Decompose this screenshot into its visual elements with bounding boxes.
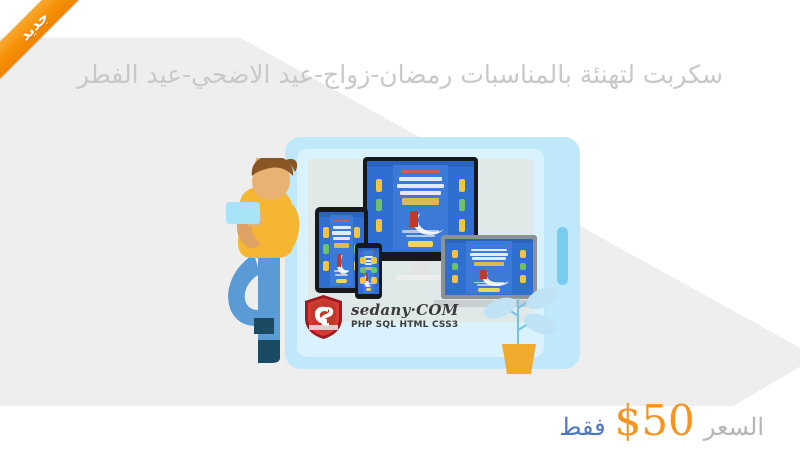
monitor-base (396, 275, 446, 280)
brand-logo-block: sedany·COM PHP SQL HTML CSS3 (303, 294, 459, 340)
price-amount: $50 (615, 400, 695, 442)
monitor-neck (412, 260, 429, 276)
brand-name: sedany·COM (351, 303, 459, 319)
brand-text-block: sedany·COM PHP SQL HTML CSS3 (351, 303, 459, 330)
promo-banner: جديد سكربت لتهنئة بالمناسبات رمضان-زواج-… (0, 0, 800, 470)
plant-illustration-icon (478, 268, 586, 376)
page-title: سكربت لتهنئة بالمناسبات رمضان-زواج-عيد ا… (0, 58, 800, 92)
price-label: السعر (704, 413, 764, 441)
person-illustration (196, 158, 314, 368)
shield-logo-icon (303, 294, 344, 340)
price-row: السعر $50 فقط (559, 400, 764, 442)
plant-illustration (478, 268, 586, 376)
price-suffix: فقط (559, 413, 605, 441)
brand-tech-stack: PHP SQL HTML CSS3 (351, 321, 459, 330)
ramadan-greeting-page (358, 248, 379, 294)
smartphone-device (355, 243, 382, 299)
person-illustration-icon (196, 158, 314, 368)
smartphone-screen (358, 248, 379, 294)
